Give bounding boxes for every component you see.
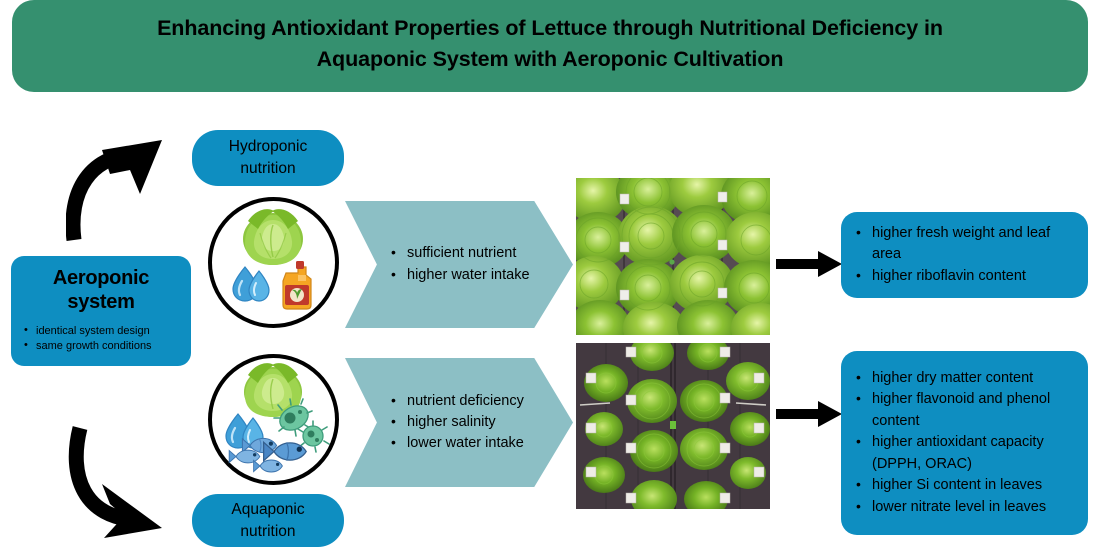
- hydroponic-conditions-chevron: sufficient nutrient higher water intake: [345, 201, 573, 328]
- hydroponic-results-box: higher fresh weight and leaf area higher…: [841, 212, 1088, 298]
- system-title-line-2: system: [67, 291, 134, 313]
- list-item: higher fresh weight and leaf area: [853, 223, 1076, 266]
- water-drops-icon: [233, 267, 269, 301]
- hydroponic-label-line-1: Hydroponic: [229, 138, 307, 155]
- aquaponic-conditions-list: nutrient deficiency higher salinity lowe…: [345, 391, 524, 455]
- aquaponic-results-box: higher dry matter content higher flavono…: [841, 351, 1088, 535]
- list-item: higher Si content in leaves: [853, 475, 1076, 496]
- curved-arrow-up-icon: [66, 132, 182, 244]
- aquaponic-results-list: higher dry matter content higher flavono…: [841, 368, 1088, 518]
- system-title: Aeroponic system: [20, 266, 182, 314]
- hydroponic-conditions-list: sufficient nutrient higher water intake: [345, 243, 530, 286]
- list-item: higher water intake: [389, 265, 530, 286]
- aquaponic-label-line-2: nutrition: [240, 523, 295, 540]
- system-bullet-list: identical system design same growth cond…: [20, 324, 182, 354]
- title-line-1: Enhancing Antioxidant Properties of Lett…: [157, 16, 943, 40]
- hydroponic-inputs-circle: [208, 197, 339, 328]
- list-item: higher riboflavin content: [853, 266, 1076, 287]
- aquaponic-label-line-1: Aquaponic: [231, 501, 304, 518]
- list-item: higher salinity: [389, 412, 524, 433]
- aeroponic-system-box: Aeroponic system identical system design…: [11, 256, 191, 366]
- arrow-right-icon: [776, 249, 844, 279]
- list-item: higher dry matter content: [853, 368, 1076, 389]
- arrow-right-icon: [776, 399, 844, 429]
- list-item: lower water intake: [389, 433, 524, 454]
- list-item: higher antioxidant capacity (DPPH, ORAC): [853, 432, 1076, 475]
- aquaponic-conditions-chevron: nutrient deficiency higher salinity lowe…: [345, 358, 573, 487]
- title-banner: Enhancing Antioxidant Properties of Lett…: [12, 0, 1088, 92]
- aquaponic-lettuce-photo: [576, 343, 770, 509]
- page-title: Enhancing Antioxidant Properties of Lett…: [34, 13, 1067, 79]
- list-item: same growth conditions: [20, 339, 182, 354]
- list-item: higher flavonoid and phenol content: [853, 389, 1076, 432]
- system-title-line-1: Aeroponic: [53, 267, 149, 289]
- hydroponic-lettuce-photo: [576, 178, 770, 335]
- aquaponic-nutrition-label: Aquaponic nutrition: [192, 494, 344, 547]
- aquaponic-inputs-circle: [208, 354, 339, 485]
- hydroponic-nutrition-label: Hydroponic nutrition: [192, 130, 344, 186]
- fertilizer-jug-icon: [283, 261, 311, 309]
- list-item: identical system design: [20, 324, 182, 339]
- title-line-2: Aquaponic System with Aeroponic Cultivat…: [317, 47, 784, 71]
- list-item: lower nitrate level in leaves: [853, 497, 1076, 518]
- hydroponic-results-list: higher fresh weight and leaf area higher…: [841, 223, 1088, 287]
- hydroponic-label-line-2: nutrition: [240, 160, 295, 177]
- graphical-abstract: Enhancing Antioxidant Properties of Lett…: [0, 0, 1100, 560]
- lettuce-icon: [243, 209, 303, 265]
- curved-arrow-down-icon: [66, 420, 182, 540]
- list-item: nutrient deficiency: [389, 391, 524, 412]
- list-item: sufficient nutrient: [389, 243, 530, 264]
